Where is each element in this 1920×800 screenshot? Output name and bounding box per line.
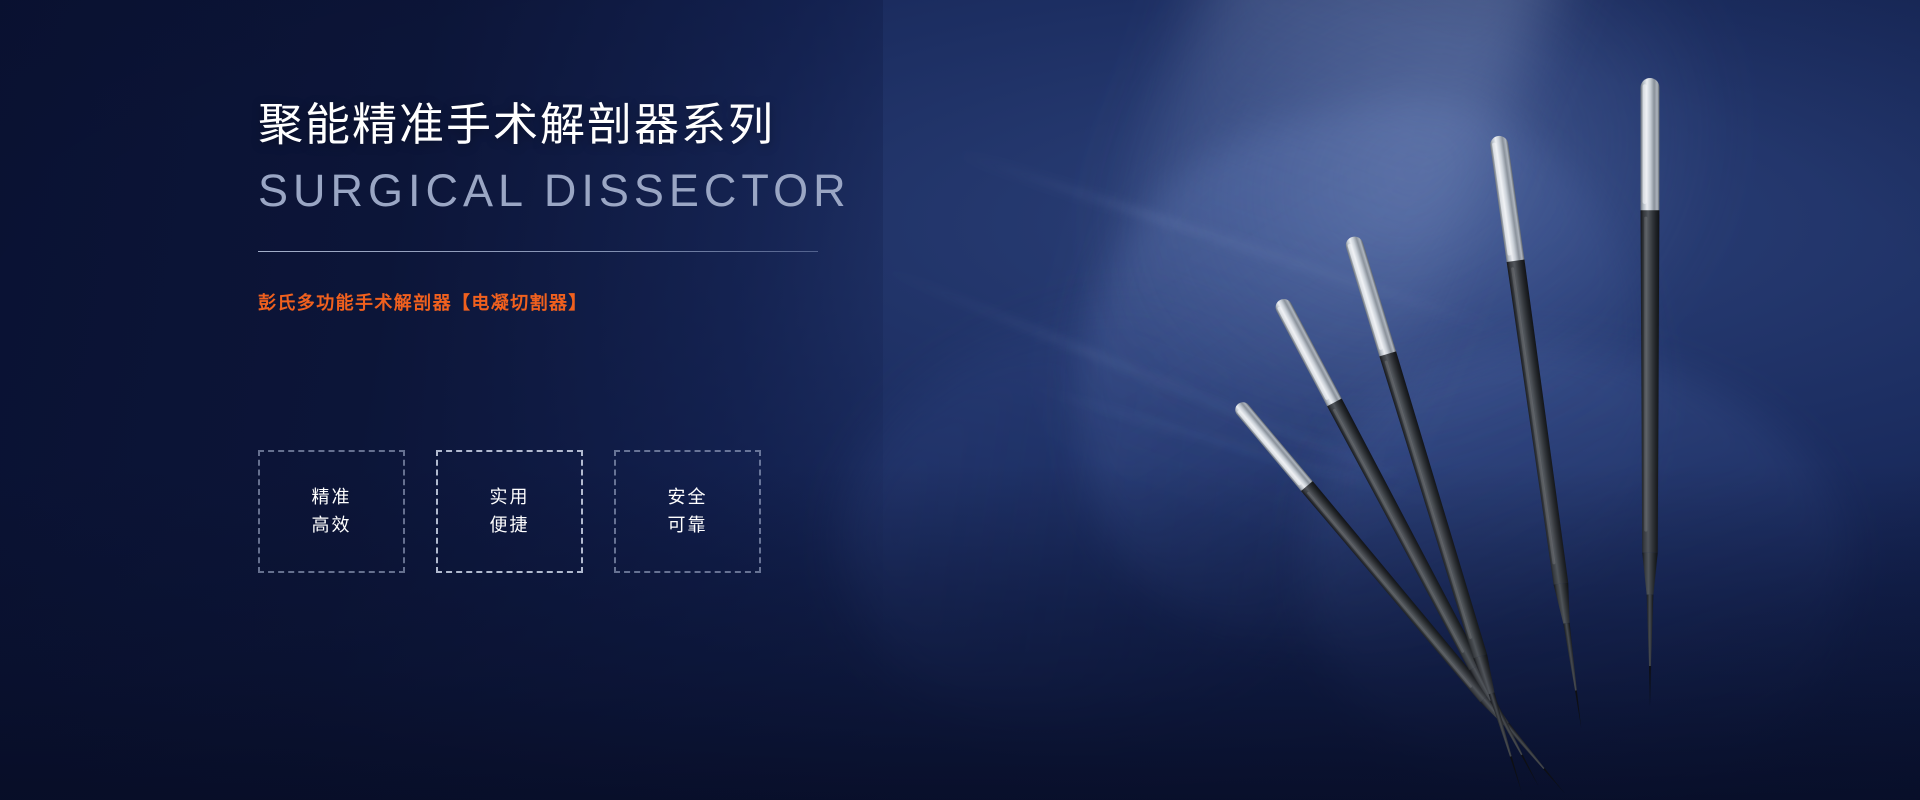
divider <box>258 251 818 252</box>
feature-box-list: 精准 高效 实用 便捷 安全 可靠 <box>258 450 761 573</box>
banner-text-block: 聚能精准手术解剖器系列 SURGICAL DISSECTOR 彭氏多功能手术解剖… <box>258 96 1018 315</box>
page-subtitle: SURGICAL DISSECTOR <box>258 164 1018 217</box>
page-title: 聚能精准手术解剖器系列 <box>258 96 1018 154</box>
feature-box-2-line2: 便捷 <box>490 512 530 540</box>
product-tagline: 彭氏多功能手术解剖器【电凝切割器】 <box>258 289 1018 315</box>
feature-box-1: 精准 高效 <box>258 450 405 573</box>
product-hero-banner: 聚能精准手术解剖器系列 SURGICAL DISSECTOR 彭氏多功能手术解剖… <box>0 0 1920 800</box>
feature-box-3: 安全 可靠 <box>614 450 761 573</box>
feature-box-2: 实用 便捷 <box>436 450 583 573</box>
feature-box-1-line2: 高效 <box>312 512 352 540</box>
feature-box-2-line1: 实用 <box>490 484 530 512</box>
feature-box-3-line2: 可靠 <box>668 512 708 540</box>
feature-box-3-line1: 安全 <box>668 484 708 512</box>
feature-box-1-line1: 精准 <box>312 484 352 512</box>
